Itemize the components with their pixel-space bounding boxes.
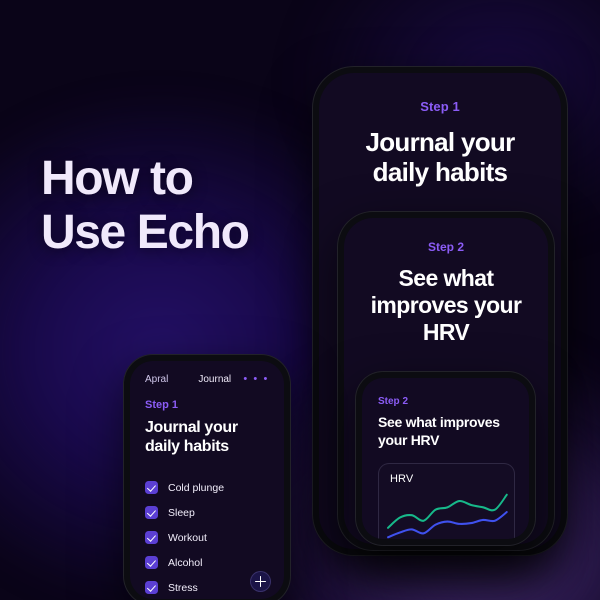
habit-checkbox-checked-icon[interactable] xyxy=(145,556,158,569)
phone-middle-headline: See what improves your HRV xyxy=(360,265,532,346)
habit-label: Alcohol xyxy=(168,557,202,569)
phone-inner-screen: Step 2 See what improves your HRV HRV xyxy=(362,378,529,539)
hrv-chart-card[interactable]: HRV xyxy=(378,463,515,539)
phone-outer-headline: Journal your daily habits xyxy=(337,127,543,187)
phone-outer-headline-line-1: Journal your xyxy=(337,127,543,157)
phone-middle-step-label: Step 2 xyxy=(360,240,532,254)
hrv-series-upper-line xyxy=(388,495,507,528)
add-habit-button[interactable] xyxy=(250,571,271,592)
phone-mockup-inner: Step 2 See what improves your HRV HRV xyxy=(355,371,536,546)
phone-middle-headline-line-3: HRV xyxy=(360,319,532,346)
app-brand-label[interactable]: Apral xyxy=(145,374,168,385)
phone-left-screen: Apral Journal • • • Step 1 Journal your … xyxy=(130,361,284,599)
hrv-chart-title: HRV xyxy=(390,473,413,485)
habit-checkbox-checked-icon[interactable] xyxy=(145,531,158,544)
habit-row[interactable]: Alcohol xyxy=(145,550,269,575)
phone-middle-headline-line-2: improves your xyxy=(360,292,532,319)
phone-middle-headline-line-1: See what xyxy=(360,265,532,292)
phone-inner-headline-line-2: your HRV xyxy=(378,432,513,450)
habit-label: Stress xyxy=(168,582,198,594)
phone-left-headline-line-2: daily habits xyxy=(145,437,269,456)
page-title: How to Use Echo xyxy=(41,152,341,260)
app-nav-title[interactable]: Journal xyxy=(198,374,231,385)
habit-label: Workout xyxy=(168,532,207,544)
habit-row[interactable]: Cold plunge xyxy=(145,475,269,500)
habit-checkbox-checked-icon[interactable] xyxy=(145,506,158,519)
phone-mockup-left: Apral Journal • • • Step 1 Journal your … xyxy=(123,354,291,600)
phone-middle-content: Step 2 See what improves your HRV xyxy=(344,218,548,346)
phone-outer-content: Step 1 Journal your daily habits xyxy=(319,73,561,187)
more-options-icon[interactable]: • • • xyxy=(243,374,269,385)
phone-inner-step-label: Step 2 xyxy=(378,396,513,407)
page-title-line-2: Use Echo xyxy=(41,206,341,260)
phone-outer-step-label: Step 1 xyxy=(337,99,543,114)
habit-label: Sleep xyxy=(168,507,195,519)
phone-left-headline-line-1: Journal your xyxy=(145,418,269,437)
phone-left-step-label: Step 1 xyxy=(130,385,284,411)
phone-left-headline: Journal your daily habits xyxy=(130,411,284,456)
habit-checkbox-checked-icon[interactable] xyxy=(145,581,158,594)
habit-row[interactable]: Workout xyxy=(145,525,269,550)
phone-inner-headline: See what improves your HRV xyxy=(378,414,513,449)
phone-inner-content: Step 2 See what improves your HRV xyxy=(362,378,529,449)
habit-checkbox-checked-icon[interactable] xyxy=(145,481,158,494)
habit-row[interactable]: Sleep xyxy=(145,500,269,525)
hrv-line-chart xyxy=(379,486,514,539)
phone-inner-headline-line-1: See what improves xyxy=(378,414,513,432)
page-title-line-1: How to xyxy=(41,152,341,206)
phone-outer-headline-line-2: daily habits xyxy=(337,157,543,187)
app-nav-bar: Apral Journal • • • xyxy=(130,361,284,385)
poster-canvas: How to Use Echo Step 1 Journal your dail… xyxy=(0,0,600,600)
habit-label: Cold plunge xyxy=(168,482,224,494)
